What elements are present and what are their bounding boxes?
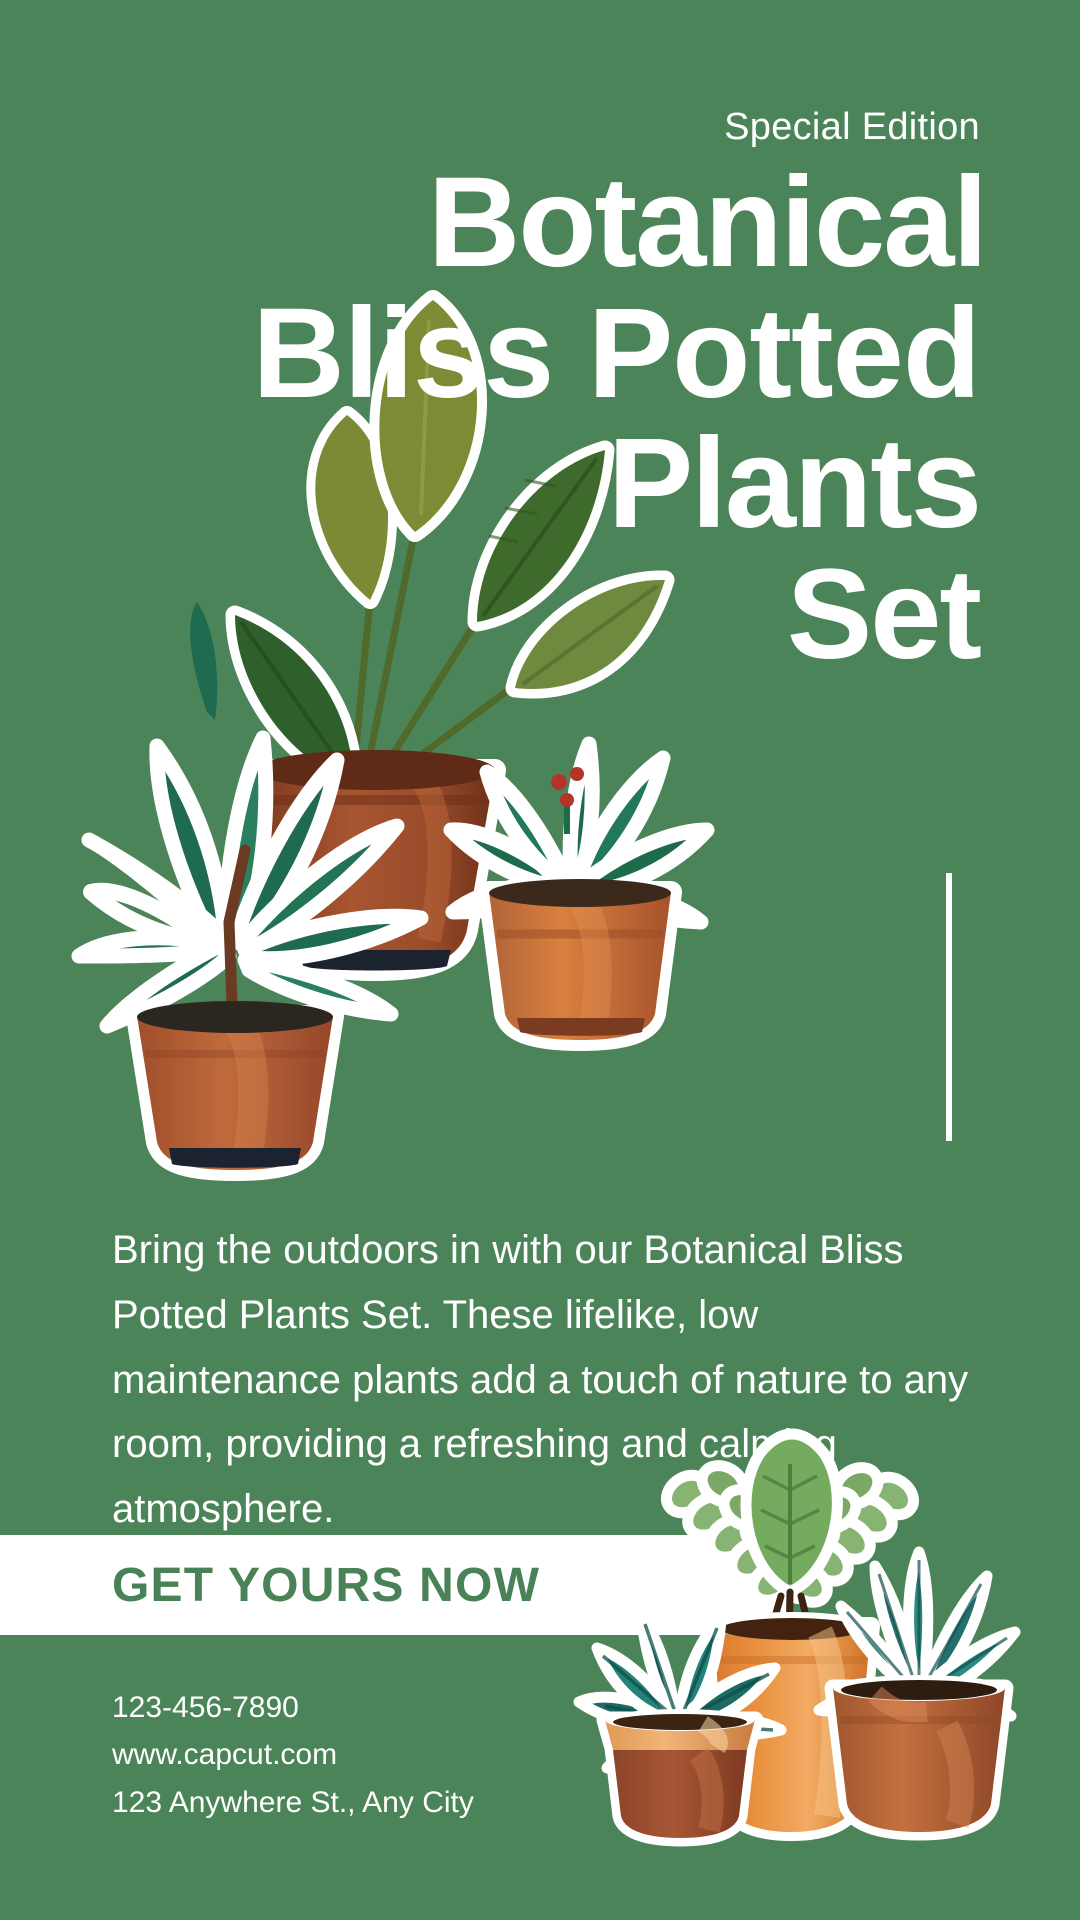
footer-phone[interactable]: 123-456-7890 [112, 1684, 474, 1731]
footer-website[interactable]: www.capcut.com [112, 1731, 474, 1778]
title-line-2: Bliss Potted [0, 289, 980, 420]
agave-pot [833, 1675, 1005, 1832]
agave-plant [819, 1552, 1015, 1832]
vertical-divider [946, 873, 952, 1141]
footer-address: 123 Anywhere St., Any City [112, 1779, 474, 1826]
spider-plant-pot [489, 879, 671, 1040]
fan-palm-pot [137, 1001, 333, 1170]
spider-plant [451, 744, 707, 1040]
poster-canvas: Special Edition [0, 0, 1080, 1920]
rosette-pot [605, 1709, 755, 1838]
main-plants-illustration [85, 470, 785, 1170]
bottom-plants-illustration [575, 1420, 1005, 1840]
footer-contact: 123-456-7890 www.capcut.com 123 Anywhere… [112, 1684, 474, 1826]
eyebrow-label: Special Edition [724, 108, 980, 146]
title-line-1: Botanical [0, 158, 986, 289]
get-yours-now-button[interactable]: GET YOURS NOW [112, 1558, 540, 1613]
